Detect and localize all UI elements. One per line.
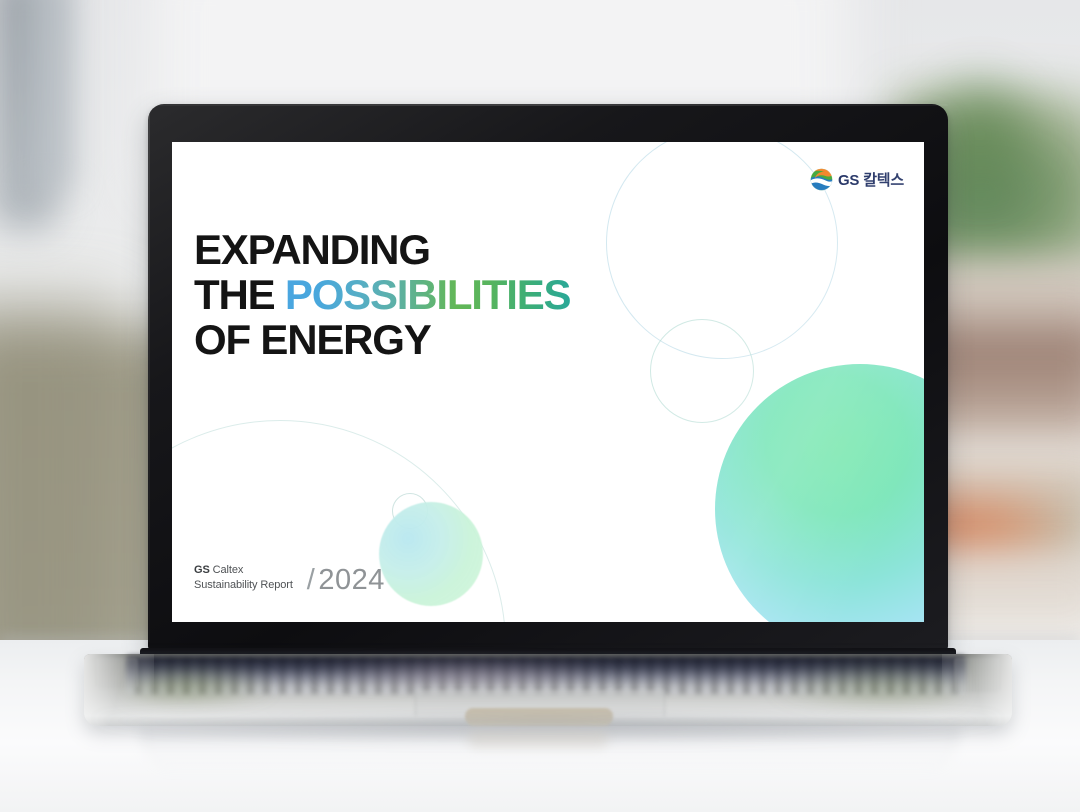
headline-line-3: OF ENERGY: [194, 317, 570, 362]
bezel-top-highlight: [148, 104, 948, 106]
footer-year-block: /2024: [307, 565, 385, 595]
headline-line-1: EXPANDING: [194, 227, 570, 272]
footer-brand-name: GS Caltex: [194, 563, 293, 578]
headline-possibilities-gradient: POSSIBILITIES: [285, 271, 570, 318]
laptop-screen[interactable]: GS 칼텍스 EXPANDING THE POSSIBILITIES OF EN…: [172, 142, 924, 622]
gradient-orb-large: [715, 364, 924, 622]
footer-subtitle: Sustainability Report: [194, 578, 293, 593]
headline-the: THE: [194, 271, 285, 318]
page-title: EXPANDING THE POSSIBILITIES OF ENERGY: [194, 227, 570, 362]
footer-separator: /: [307, 564, 316, 596]
slide-footer: GS Caltex Sustainability Report /2024: [194, 562, 385, 592]
keyboard-reflection: [300, 660, 630, 688]
gs-caltex-wordmark: GS 칼텍스: [838, 169, 904, 190]
bezel-left-highlight: [148, 114, 150, 642]
outline-ring-small-icon: [650, 319, 754, 423]
keyboard-green-tint-right: [770, 666, 960, 706]
gs-caltex-logo-mark-icon: [810, 168, 833, 191]
footer-brand-bold: GS: [194, 564, 210, 576]
footer-year: 2024: [318, 564, 385, 596]
notch-reflection: [468, 730, 608, 748]
gs-caltex-logo: GS 칼텍스: [810, 168, 904, 191]
footer-brand-rest: Caltex: [210, 564, 244, 576]
headline-line-2: THE POSSIBILITIES: [194, 272, 570, 317]
laptop-device: GS 칼텍스 EXPANDING THE POSSIBILITIES OF EN…: [0, 0, 1080, 812]
footer-brand-block: GS Caltex Sustainability Report: [194, 563, 293, 592]
gradient-orb-small: [379, 502, 483, 606]
